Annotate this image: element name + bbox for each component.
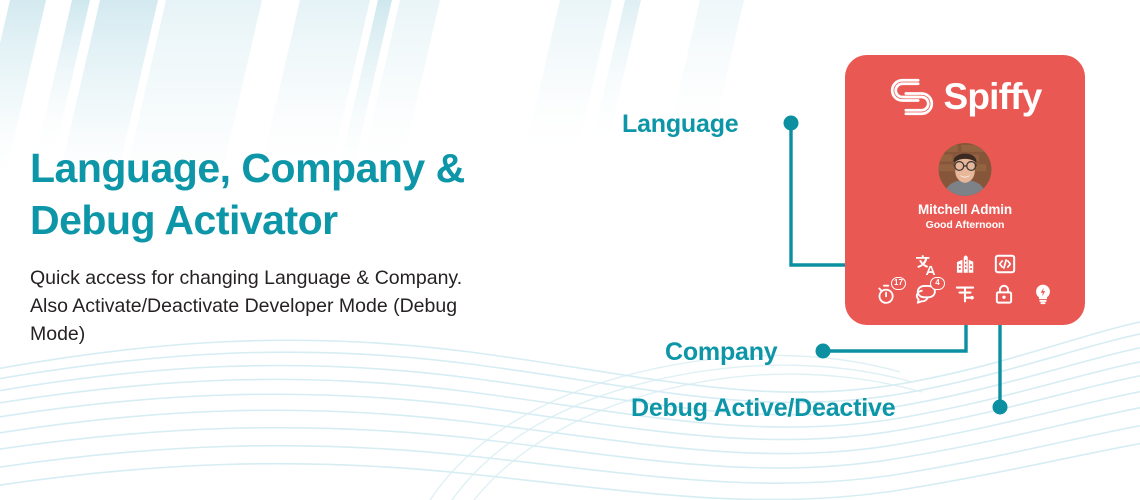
wave-lines-right [430,355,922,500]
company-icon[interactable] [954,253,976,275]
callout-label-language: Language [622,110,738,139]
callout-label-debug: Debug Active/Deactive [631,394,895,423]
quick-action-row-secondary: 17 4 [845,283,1085,305]
translate-icon[interactable] [914,253,936,275]
connector-dot-debug [993,400,1008,415]
user-name: Mitchell Admin [845,202,1085,217]
lightbulb-icon[interactable] [1032,283,1054,305]
page-description: Quick access for changing Language & Com… [30,264,500,348]
connector-dot-language [784,116,799,131]
brand-logo: Spiffy [845,75,1085,119]
callout-label-company: Company [665,338,778,367]
messages-icon[interactable]: 4 [915,283,937,305]
debug-code-icon[interactable] [994,253,1016,275]
user-greeting: Good Afternoon [845,219,1085,231]
timer-icon[interactable]: 17 [876,283,898,305]
promo-banner: Language, Company & Debug Activator Quic… [0,0,1140,500]
lock-icon[interactable] [993,283,1015,305]
spiffy-paperclip-logo-icon [889,75,935,119]
quick-action-row-primary [845,253,1085,275]
connector-dot-company [816,344,831,359]
spiffy-user-card: Spiffy [845,55,1085,325]
activity-icon[interactable] [954,283,976,305]
avatar [939,143,992,196]
brand-name: Spiffy [944,77,1042,117]
page-title: Language, Company & Debug Activator [30,142,550,246]
messages-badge: 4 [930,277,945,290]
timer-badge: 17 [891,277,906,290]
user-avatar-photo-icon [939,143,992,196]
